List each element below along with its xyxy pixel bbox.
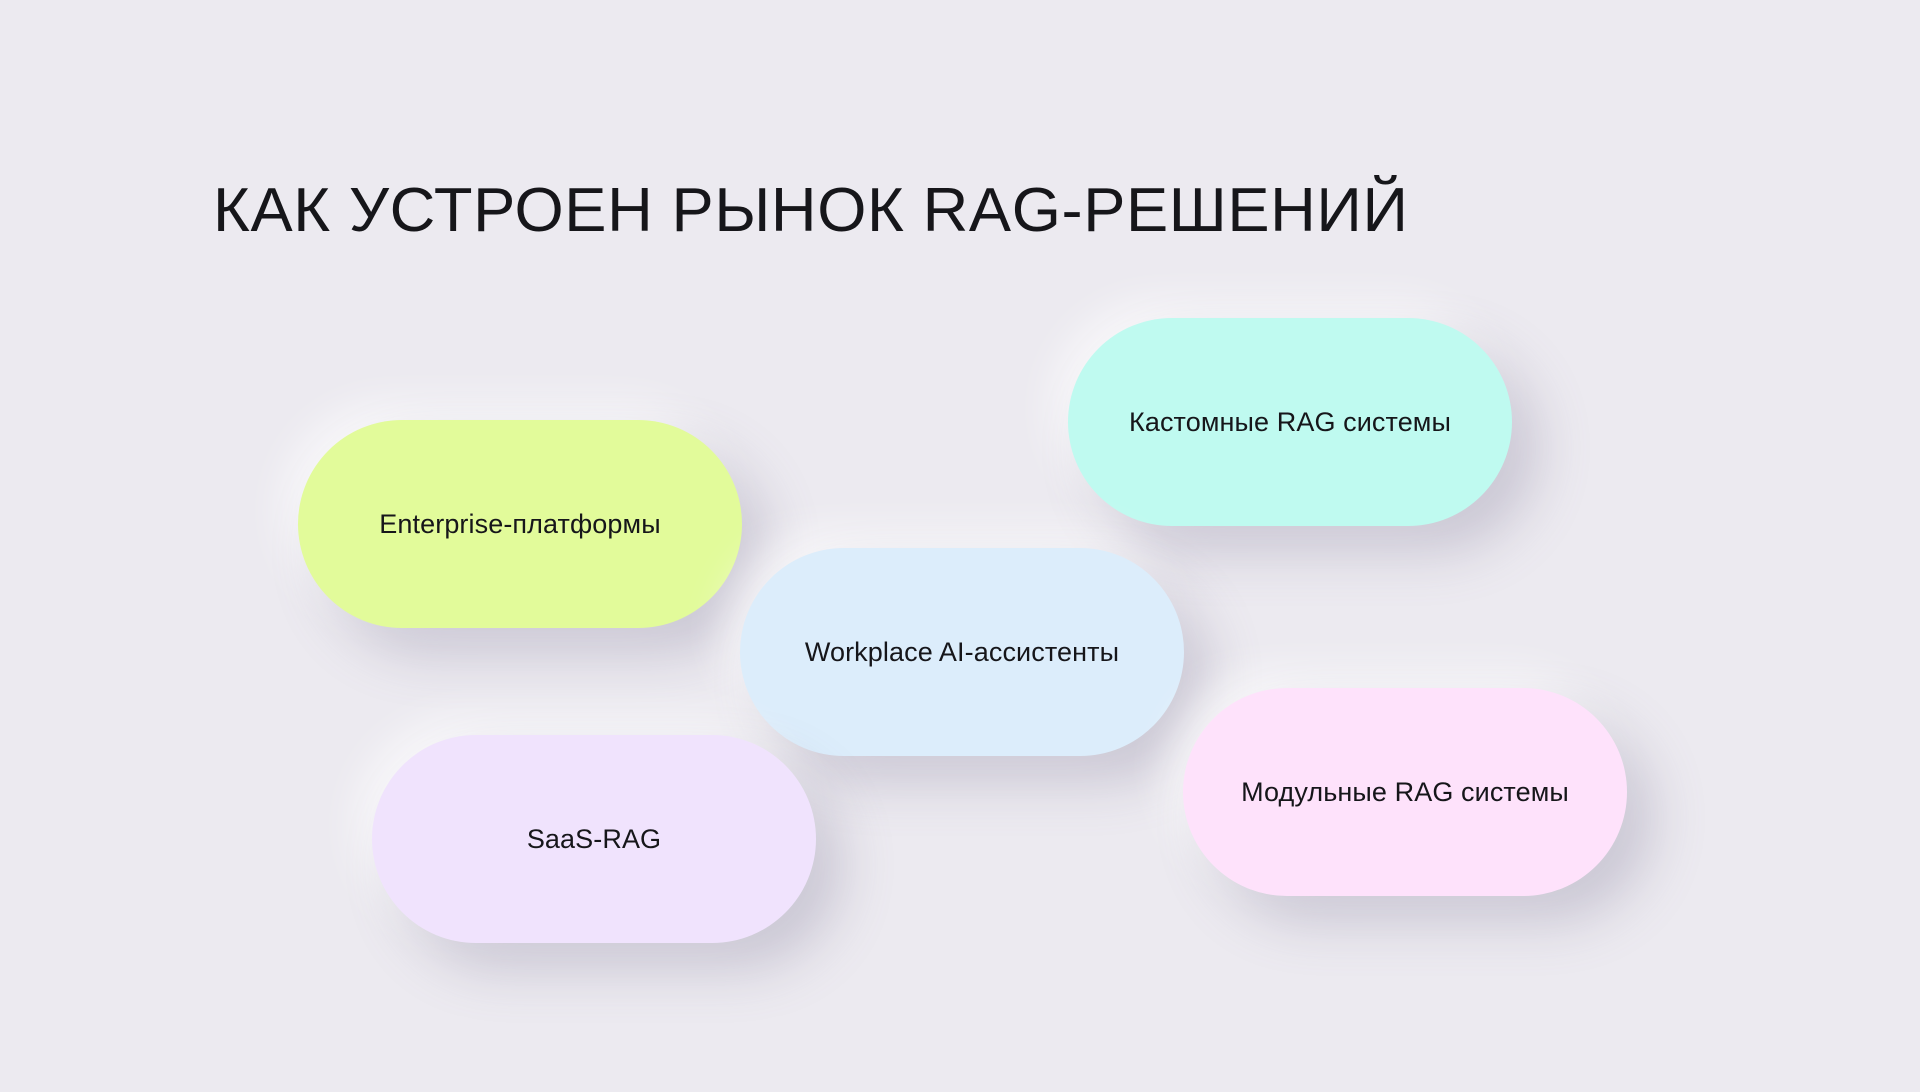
pill-label-custom-rag: Кастомные RAG системы [1102,404,1478,440]
pill-label-workplace: Workplace AI-ассистенты [774,634,1150,670]
pill-label-enterprise: Enterprise-платформы [332,506,708,542]
pill-card-workplace[interactable]: Workplace AI-ассистенты [740,548,1184,756]
pill-card-modular[interactable]: Модульные RAG системы [1183,688,1627,896]
pill-card-enterprise[interactable]: Enterprise-платформы [298,420,742,628]
pill-card-custom-rag[interactable]: Кастомные RAG системы [1068,318,1512,526]
pill-label-modular: Модульные RAG системы [1217,774,1593,810]
page-title: КАК УСТРОЕН РЫНОК RAG-РЕШЕНИЙ [213,178,1409,243]
pill-card-saas[interactable]: SaaS-RAG [372,735,816,943]
slide-canvas: КАК УСТРОЕН РЫНОК RAG-РЕШЕНИЙ Enterprise… [0,0,1920,1092]
pill-label-saas: SaaS-RAG [406,821,782,857]
